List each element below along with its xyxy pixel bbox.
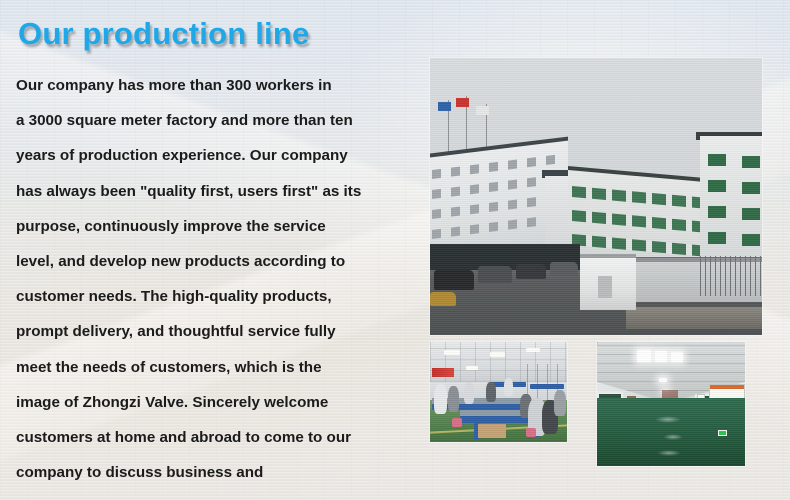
- description-line: prompt delivery, and thoughtful service …: [16, 314, 424, 349]
- description-line: purpose, continuously improve the servic…: [16, 209, 424, 244]
- worker: [504, 378, 513, 396]
- floor-reflection: [657, 450, 681, 456]
- parked-car: [516, 264, 546, 279]
- carton-box: [478, 424, 506, 438]
- parked-car: [434, 270, 474, 290]
- tower-window: [708, 180, 726, 192]
- cabin-door: [598, 276, 612, 298]
- factory-exterior-photo: [430, 58, 762, 335]
- parked-car: [550, 262, 578, 276]
- description-line: has always been "quality first, users fi…: [16, 174, 424, 209]
- tower-window: [708, 206, 726, 218]
- floor-reflection: [655, 416, 681, 423]
- assembly-bench: [530, 384, 564, 389]
- tower-window: [742, 234, 760, 246]
- boundary-wall: [626, 307, 762, 329]
- tower-window: [742, 156, 760, 168]
- stool: [526, 428, 536, 437]
- tower-window: [708, 232, 726, 244]
- ceiling-light: [637, 350, 651, 362]
- floor-reflection: [663, 434, 683, 440]
- ceiling-lamp: [490, 352, 505, 357]
- worker: [434, 384, 447, 414]
- ceiling-light: [659, 378, 667, 382]
- emergency-exit-sign: [718, 430, 727, 436]
- worker: [554, 390, 566, 416]
- tower-window: [742, 182, 760, 194]
- description-line: a 3000 square meter factory and more tha…: [16, 103, 424, 138]
- ceiling-lamp: [526, 348, 540, 352]
- parked-car: [430, 292, 456, 306]
- flag-white: [476, 106, 489, 115]
- production-line-banner: Our production line Our company has more…: [0, 0, 790, 500]
- description-line: years of production experience. Our comp…: [16, 138, 424, 173]
- worker: [486, 382, 496, 402]
- description-line: seek a win-win situation.: [16, 490, 424, 500]
- stool: [452, 418, 462, 427]
- ceiling-lamp: [466, 366, 478, 370]
- description-line: company to discuss business and: [16, 455, 424, 490]
- worker: [464, 382, 474, 404]
- assembly-workshop-photo: [430, 342, 567, 442]
- parked-car: [478, 266, 512, 283]
- description-line: Our company has more than 300 workers in: [16, 68, 424, 103]
- description-line: customer needs. The high-quality product…: [16, 279, 424, 314]
- description-line: level, and develop new products accordin…: [16, 244, 424, 279]
- bulletin-board-header: [710, 385, 744, 389]
- flag-red: [456, 98, 469, 107]
- page-title: Our production line: [18, 16, 309, 52]
- corridor-photo: [597, 342, 745, 466]
- red-banner: [432, 368, 454, 377]
- ceiling-light: [671, 352, 683, 362]
- metal-fence: [700, 256, 762, 296]
- flag-blue: [438, 102, 451, 111]
- description-line: customers at home and abroad to come to …: [16, 420, 424, 455]
- company-description: Our company has more than 300 workers in…: [16, 68, 424, 500]
- tower-window: [708, 154, 726, 166]
- description-line: image of Zhongzi Valve. Sincerely welcom…: [16, 385, 424, 420]
- ceiling-light: [655, 351, 667, 362]
- ceiling-lamp: [444, 350, 460, 355]
- worker: [448, 386, 459, 412]
- guard-cabin: [580, 254, 636, 310]
- description-line: meet the needs of customers, which is th…: [16, 350, 424, 385]
- tower-window: [742, 208, 760, 220]
